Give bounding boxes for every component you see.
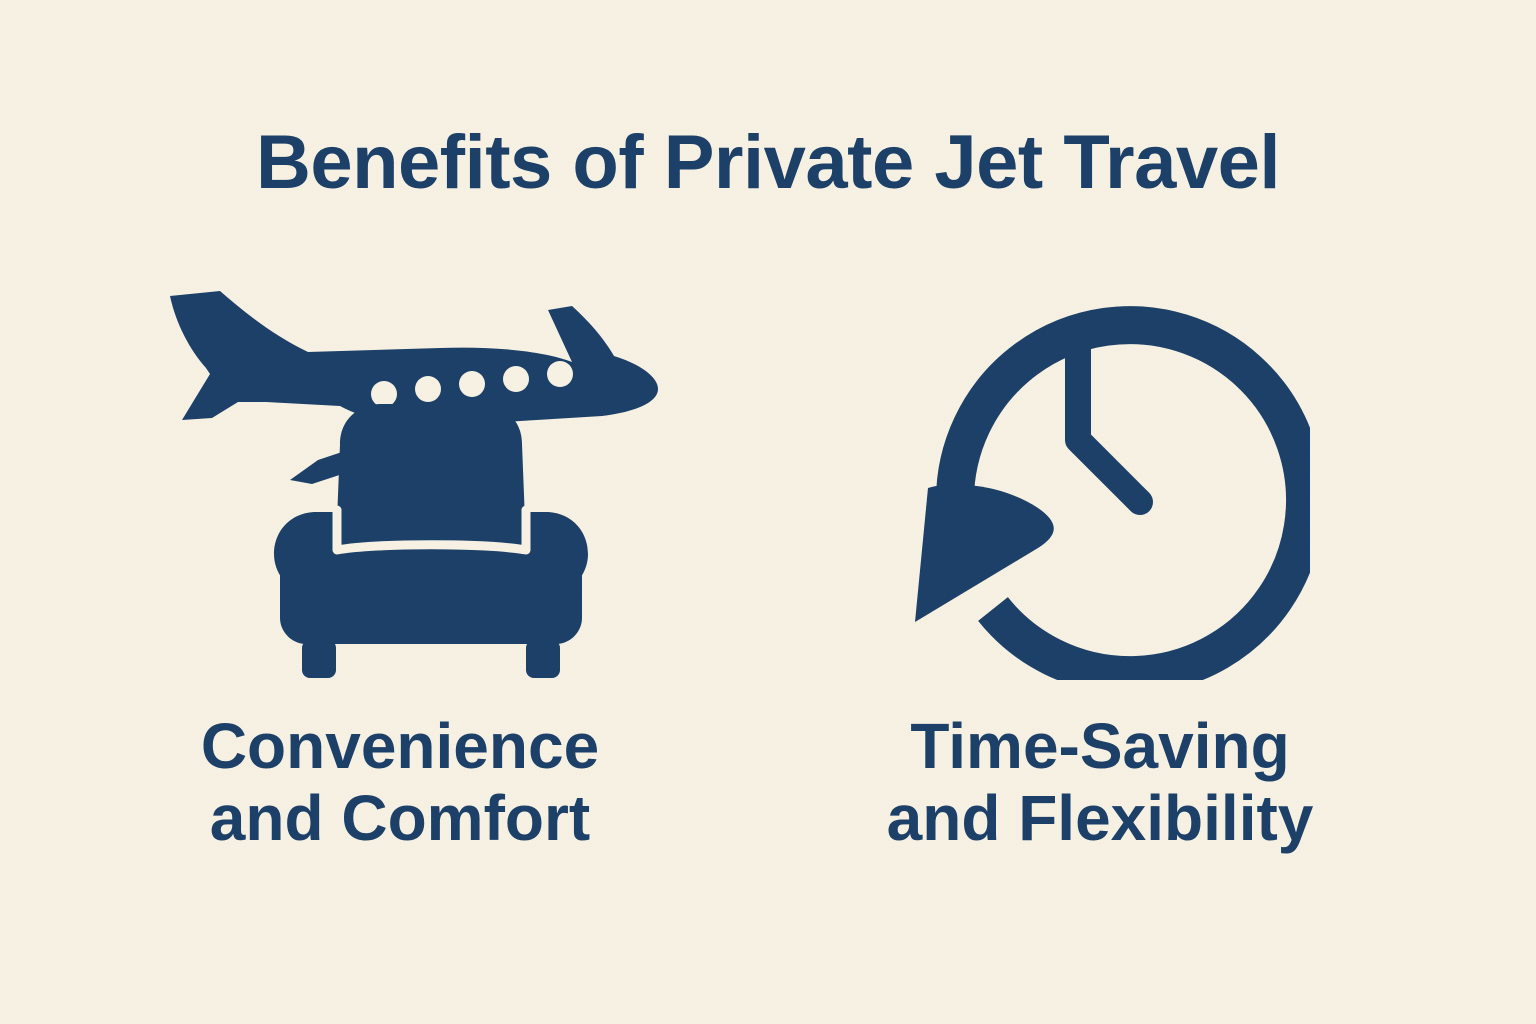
armchair-leg-right — [526, 640, 560, 678]
benefit-icon-wrapper — [820, 250, 1380, 680]
armchair-leg-left — [302, 640, 336, 678]
benefit-icon-wrapper — [120, 250, 680, 680]
benefit-label-convenience: Convenience and Comfort — [120, 710, 680, 855]
private-jet-and-armchair-icon — [140, 250, 660, 680]
benefit-label-line-1: Convenience — [120, 710, 680, 782]
benefit-label-line-2: and Comfort — [120, 782, 680, 854]
benefit-label-line-1: Time-Saving — [820, 710, 1380, 782]
benefit-label-line-2: and Flexibility — [820, 782, 1380, 854]
clock-hands — [1078, 338, 1140, 502]
benefit-label-time-saving: Time-Saving and Flexibility — [820, 710, 1380, 855]
infographic-canvas: Benefits of Private Jet Travel — [0, 0, 1536, 1024]
benefit-card-time-saving: Time-Saving and Flexibility — [820, 250, 1380, 910]
clock-rewind-arrow-icon — [890, 250, 1310, 680]
benefit-card-convenience: Convenience and Comfort — [120, 250, 680, 910]
clock-hand-minute-and-hour — [1078, 338, 1140, 502]
page-title: Benefits of Private Jet Travel — [0, 125, 1536, 201]
rewind-arrowhead-icon — [915, 485, 1054, 622]
